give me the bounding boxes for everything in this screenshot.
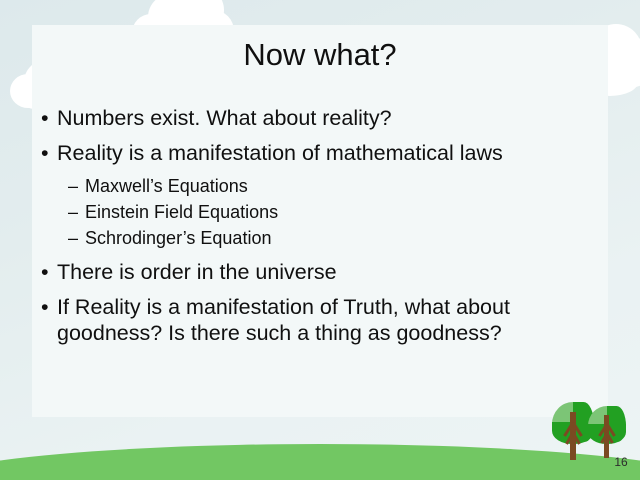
dash-marker-icon: – <box>68 201 78 224</box>
sub-bullet-text: Einstein Field Equations <box>85 202 278 222</box>
sub-bullet-item: – Schrodinger’s Equation <box>32 227 608 250</box>
bullet-text: There is order in the universe <box>57 259 608 285</box>
sub-bullet-item: – Maxwell’s Equations <box>32 175 608 198</box>
bullet-item: • If Reality is a manifestation of Truth… <box>32 294 608 346</box>
bullet-text: If Reality is a manifestation of Truth, … <box>57 294 608 346</box>
bullet-marker-icon: • <box>41 140 49 166</box>
page-number: 16 <box>608 455 634 469</box>
bullet-marker-icon: • <box>41 259 49 285</box>
bullet-item: • Reality is a manifestation of mathemat… <box>32 140 608 166</box>
bullet-item: • There is order in the universe <box>32 259 608 285</box>
bullet-text: Numbers exist. What about reality? <box>57 105 608 131</box>
bullet-item: • Numbers exist. What about reality? <box>32 105 608 131</box>
sub-bullet-item: – Einstein Field Equations <box>32 201 608 224</box>
dash-marker-icon: – <box>68 175 78 198</box>
tree-right-icon <box>588 406 626 458</box>
dash-marker-icon: – <box>68 227 78 250</box>
bullet-marker-icon: • <box>41 294 49 320</box>
bullet-list: • Numbers exist. What about reality? • R… <box>32 105 608 355</box>
page-title: Now what? <box>32 37 608 73</box>
content-panel: Now what? • Numbers exist. What about re… <box>32 25 608 417</box>
slide-canvas: Now what? • Numbers exist. What about re… <box>0 0 640 480</box>
sub-bullet-text: Schrodinger’s Equation <box>85 228 271 248</box>
bullet-text: Reality is a manifestation of mathematic… <box>57 140 608 166</box>
sub-bullet-text: Maxwell’s Equations <box>85 176 248 196</box>
bullet-marker-icon: • <box>41 105 49 131</box>
